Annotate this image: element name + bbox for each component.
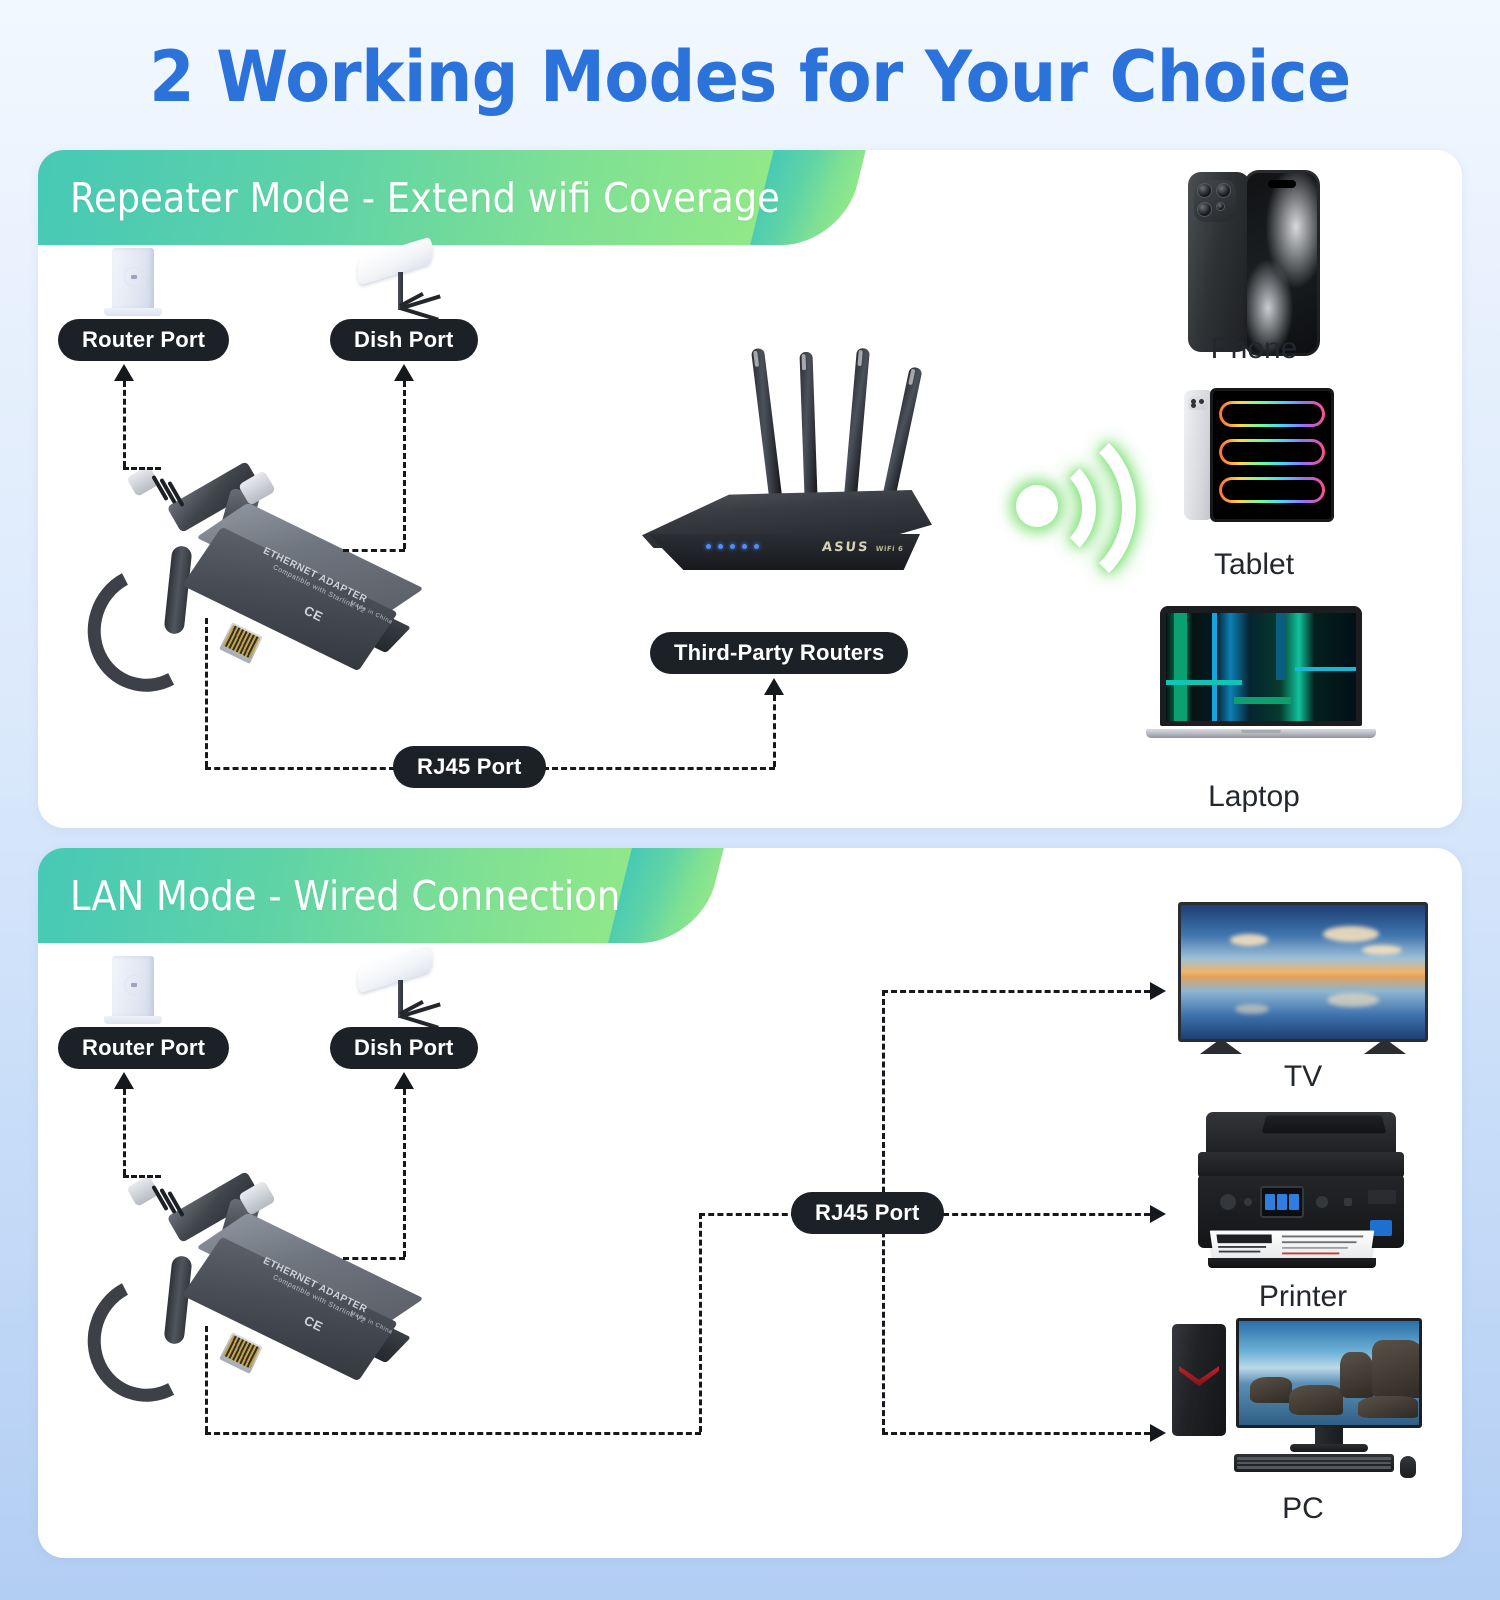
pill-dish-port-repeater: Dish Port [330, 319, 478, 361]
adapter-rj45-port [219, 622, 263, 664]
arrow-to-printer [1150, 1205, 1166, 1223]
printer-output-paper [1210, 1231, 1375, 1261]
starlink-router-icon [104, 248, 162, 318]
starlink-dish-icon [356, 248, 452, 318]
dash-router-port-horizontal-lan [123, 1175, 161, 1178]
arrow-to-router-port-repeater [114, 364, 134, 381]
repeater-banner-label: Repeater Mode - Extend wifi Coverage [70, 174, 780, 222]
dash-lan-riser [699, 1213, 702, 1432]
caption-phone: Phone [1158, 332, 1350, 366]
dash-lan-bottom-run [205, 1432, 701, 1435]
lan-mode-banner: LAN Mode - Wired Connection [38, 848, 666, 943]
dash-dish-port-horizontal [343, 549, 405, 552]
wifi-signal-icon [978, 390, 1168, 600]
third-party-router-device: ASUS WiFi 6 [632, 348, 932, 578]
pill-rj45-port-repeater: RJ45 Port [393, 746, 546, 788]
arrow-to-third-party-routers [764, 678, 784, 695]
tv-device [1178, 902, 1428, 1054]
arrow-to-pc [1150, 1424, 1166, 1442]
pc-mouse [1400, 1456, 1416, 1478]
dash-router-port-vertical [123, 381, 126, 467]
dash-lan-branch-printer [943, 1213, 1150, 1216]
caption-tablet: Tablet [1158, 548, 1350, 582]
arrow-to-tv [1150, 982, 1166, 1000]
dash-rj45-left-repeater [205, 767, 395, 770]
starlink-dish-icon-lan [356, 956, 452, 1026]
dash-lan-adapter-down [205, 1326, 208, 1432]
arrow-to-dish-port-repeater [394, 364, 414, 381]
pill-router-port-lan: Router Port [58, 1027, 229, 1069]
printer-device [1190, 1112, 1412, 1272]
dash-lan-branch-pc [882, 1432, 1150, 1435]
caption-pc: PC [1178, 1492, 1428, 1526]
caption-printer: Printer [1178, 1280, 1428, 1314]
pc-keyboard [1234, 1454, 1394, 1472]
page-title: 2 Working Modes for Your Choice [53, 36, 1448, 118]
dash-dish-port-vertical [403, 381, 406, 549]
router-led-indicators [706, 544, 759, 549]
router-brand-logo: ASUS WiFi 6 [821, 540, 904, 555]
dash-router-port-vertical-lan [123, 1089, 126, 1175]
pc-device [1172, 1318, 1422, 1478]
repeater-mode-card: Repeater Mode - Extend wifi Coverage Rou… [38, 150, 1462, 828]
laptop-device [1146, 606, 1376, 738]
dash-dish-port-vertical-lan [403, 1089, 406, 1257]
pill-router-port-repeater: Router Port [58, 319, 229, 361]
repeater-mode-banner: Repeater Mode - Extend wifi Coverage [38, 150, 808, 245]
caption-tv: TV [1178, 1060, 1428, 1094]
pill-rj45-port-lan: RJ45 Port [791, 1192, 944, 1234]
lan-mode-card: LAN Mode - Wired Connection Router Port … [38, 848, 1462, 1558]
pill-dish-port-lan: Dish Port [330, 1027, 478, 1069]
lan-banner-label: LAN Mode - Wired Connection [70, 872, 620, 920]
ethernet-adapter-device: ETHERNET ADAPTER Compatible with Starlin… [72, 430, 402, 750]
dash-third-party-vertical [773, 695, 776, 767]
dash-lan-branch-tv [882, 990, 1150, 993]
dash-router-port-horizontal [123, 467, 161, 470]
dash-dish-port-horizontal-lan [343, 1257, 405, 1260]
adapter-rj45-port-lan [219, 1332, 263, 1374]
tablet-device [1184, 388, 1334, 524]
dash-rj45-vertical-repeater [205, 618, 208, 767]
caption-laptop: Laptop [1158, 780, 1350, 814]
arrow-to-router-port-lan [114, 1072, 134, 1089]
printer-control-screen [1260, 1186, 1304, 1218]
ethernet-adapter-device-lan: ETHERNET ADAPTER Compatible with Starlin… [72, 1140, 402, 1460]
arrow-to-dish-port-lan [394, 1072, 414, 1089]
starlink-router-icon-lan [104, 956, 162, 1026]
pill-third-party-routers: Third-Party Routers [650, 632, 908, 674]
dash-rj45-right-repeater [543, 767, 775, 770]
dash-lan-to-pill [699, 1213, 797, 1216]
